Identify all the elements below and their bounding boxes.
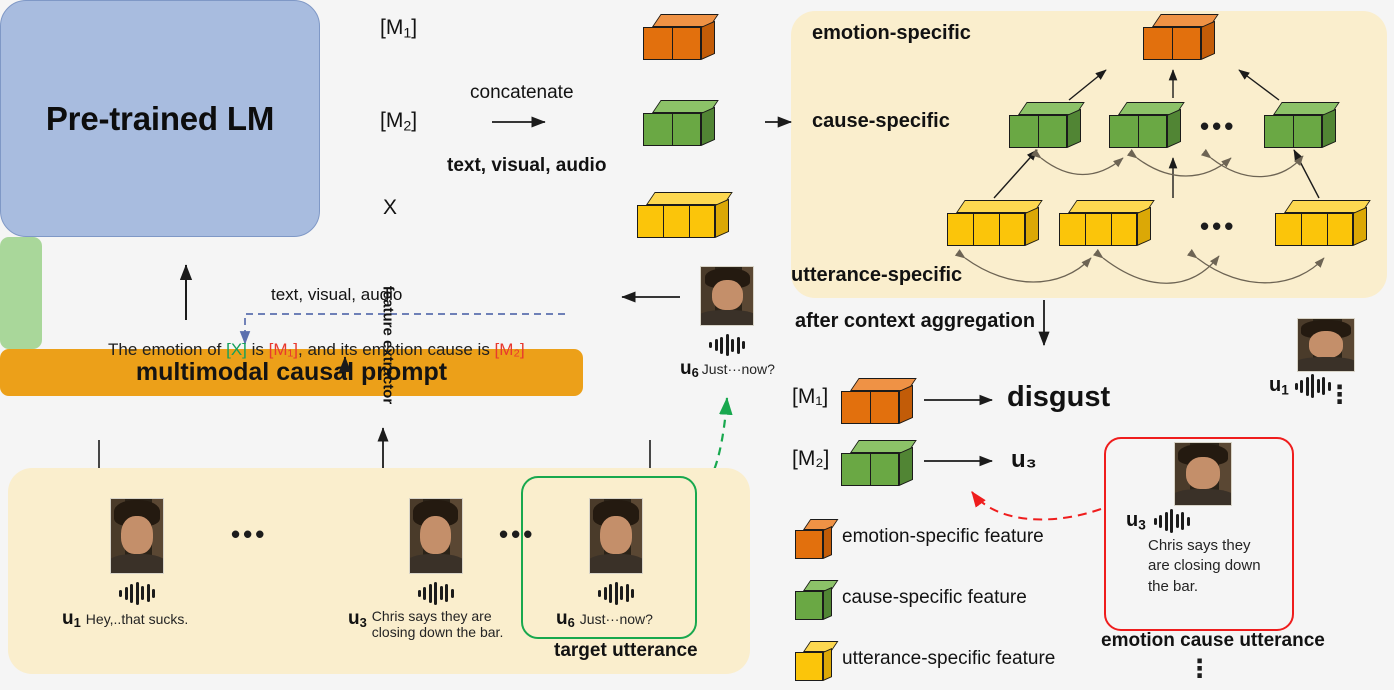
cube-cause-n [1264, 102, 1336, 148]
mask-label-m2: [M2] [380, 109, 417, 135]
right-u3-face-thumbnail [1174, 442, 1232, 506]
u6-side-text: Just···now? [702, 361, 775, 377]
legend-label-utterance: utterance-specific feature [842, 648, 1055, 670]
utterance-item-3: u3 Chris says they are closing down the … [348, 498, 523, 640]
legend-label-emotion: emotion-specific feature [842, 526, 1044, 548]
utterance-item-6: u6 Just···now? [556, 498, 676, 630]
cube-prediction-emotion [841, 378, 913, 424]
cube-utterance-2 [1059, 200, 1151, 246]
right-vdots-1: ⋮ [1327, 390, 1352, 401]
right-u1-id: u1 [1269, 374, 1289, 397]
concatenate-label: concatenate [470, 82, 574, 104]
u6-side-audio-waveform [701, 333, 753, 357]
legend-cube-cause [795, 580, 831, 620]
ellipsis-cause-row: ••• [1200, 112, 1236, 142]
right-u3-id: u3 [1126, 509, 1146, 532]
right-panel: emotion-specific cause-specific utteranc… [779, 0, 1394, 690]
legend-label-cause: cause-specific feature [842, 587, 1027, 609]
prediction-result-cause: u₃ [1011, 446, 1037, 474]
prompt-bar-label: multimodal causal prompt [136, 358, 447, 387]
emotion-cause-utterance-label: emotion cause utterance [1101, 630, 1325, 652]
prompt-part-3: , and its emotion cause is [298, 340, 495, 359]
right-utterance-u1: u1 ⋮ [1269, 318, 1355, 398]
prediction-result-emotion: disgust [1007, 381, 1110, 414]
right-utterance-u3: u3 Chris says they are closing down the … [1126, 442, 1276, 597]
row-label-emotion: emotion-specific [812, 22, 971, 45]
cube-utterance-1 [947, 200, 1039, 246]
prompt-part-1: The emotion of [108, 340, 226, 359]
cube-emotion-top [643, 14, 715, 60]
target-utterance-label: target utterance [554, 640, 698, 662]
prediction-mask-m1: [M₁] [792, 385, 828, 409]
context-aggregation-panel [791, 11, 1387, 298]
row-label-utterance: utterance-specific [791, 264, 962, 287]
right-u3-text: Chris says they are closing down the bar… [1148, 536, 1276, 597]
right-u1-face-thumbnail [1297, 318, 1355, 372]
u6-side-face-thumbnail [700, 266, 754, 326]
u3-audio-waveform [348, 581, 523, 605]
pretrained-lm-label: Pre-trained LM [46, 100, 274, 138]
cube-prediction-cause [841, 440, 913, 486]
modality-label-top: text, visual, audio [447, 155, 606, 177]
right-u3-audio-waveform [1154, 509, 1190, 533]
right-vdots-2: ⋮ [1187, 664, 1212, 675]
cube-utterance-n [1275, 200, 1367, 246]
cause-utterance-dashed-arrow [972, 492, 1101, 519]
input-label-x: X [383, 196, 397, 220]
ellipsis-left-1: ••• [231, 520, 267, 550]
cube-cause-2 [1109, 102, 1181, 148]
after-aggregation-label: after context aggregation [795, 310, 1035, 333]
u3-face-thumbnail [409, 498, 463, 574]
row-label-cause: cause-specific [812, 110, 950, 133]
cube-utterance-top [637, 192, 729, 238]
u1-text: Hey,..that sucks. [86, 611, 188, 627]
prediction-mask-m2: [M₂] [792, 447, 829, 471]
u6-text: Just···now? [580, 611, 653, 627]
feature-extractor-box: feature extractor [0, 237, 42, 349]
u6-side-id: u6 [680, 358, 699, 380]
prompt-token-m1: [M₁] [269, 340, 298, 359]
mask-label-m1: [M1] [380, 16, 417, 42]
legend-cube-emotion [795, 519, 831, 559]
utterance-item-1: u1 Hey,..that sucks. [62, 498, 212, 630]
prompt-token-m2: [M₂] [495, 340, 525, 359]
u6-side-sample: u6 Just···now? [680, 266, 775, 380]
u3-text: Chris says they are closing down the bar… [372, 608, 504, 640]
prompt-token-x: [X] [226, 340, 247, 359]
cube-cause-1 [1009, 102, 1081, 148]
u6-face-thumbnail [589, 498, 643, 574]
left-panel: Pre-trained LM [M1] [M2] X concatenate t… [0, 0, 775, 690]
u6-audio-waveform [556, 581, 676, 605]
u1-face-thumbnail [110, 498, 164, 574]
u1-audio-waveform [62, 581, 212, 605]
prompt-part-2: is [247, 340, 269, 359]
u1-id: u1 [62, 608, 81, 630]
ellipsis-utterance-row: ••• [1200, 212, 1236, 242]
pretrained-lm-box: Pre-trained LM [0, 0, 320, 237]
u6-id: u6 [556, 608, 575, 630]
prompt-sentence: The emotion of [X] is [M₁], and its emot… [108, 340, 525, 360]
cube-emotion-output [1143, 14, 1215, 60]
legend-cube-utterance [795, 641, 831, 681]
right-u1-audio-waveform [1295, 374, 1331, 398]
cube-cause-top [643, 100, 715, 146]
u3-id: u3 [348, 608, 367, 630]
